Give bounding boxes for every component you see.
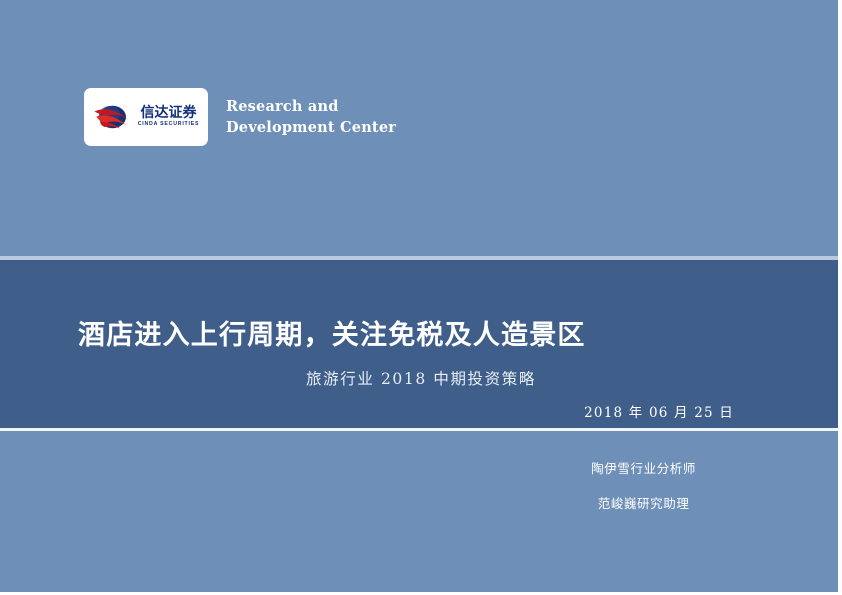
- report-headline: 酒店进入上行周期，关注免税及人造景区: [78, 313, 586, 352]
- research-development-center-label: Research and Development Center: [226, 96, 396, 138]
- report-subtitle: 旅游行业 2018 中期投资策略: [0, 367, 842, 389]
- author-analyst: 陶伊雪行业分析师: [591, 463, 696, 476]
- report-cover-slide: 信达证券 CINDA SECURITIES Research and Devel…: [0, 0, 842, 595]
- logo-lockup: 信达证券 CINDA SECURITIES: [93, 103, 200, 131]
- brand-header: 信达证券 CINDA SECURITIES Research and Devel…: [84, 88, 396, 146]
- logo-english-name: CINDA SECURITIES: [138, 122, 200, 127]
- author-block: 陶伊雪行业分析师 范峻巍研究助理: [591, 463, 696, 510]
- report-date: 2018 年 06 月 25 日: [584, 401, 734, 421]
- right-frame-edge: [838, 0, 842, 595]
- logo-card: 信达证券 CINDA SECURITIES: [84, 88, 208, 146]
- logo-chinese-name: 信达证券: [140, 106, 196, 120]
- logo-wordmark: 信达证券 CINDA SECURITIES: [138, 106, 200, 127]
- bottom-color-band: [0, 431, 842, 595]
- cinda-ellipse-swoosh-logo-icon: [93, 103, 133, 131]
- author-research-assistant: 范峻巍研究助理: [591, 498, 696, 511]
